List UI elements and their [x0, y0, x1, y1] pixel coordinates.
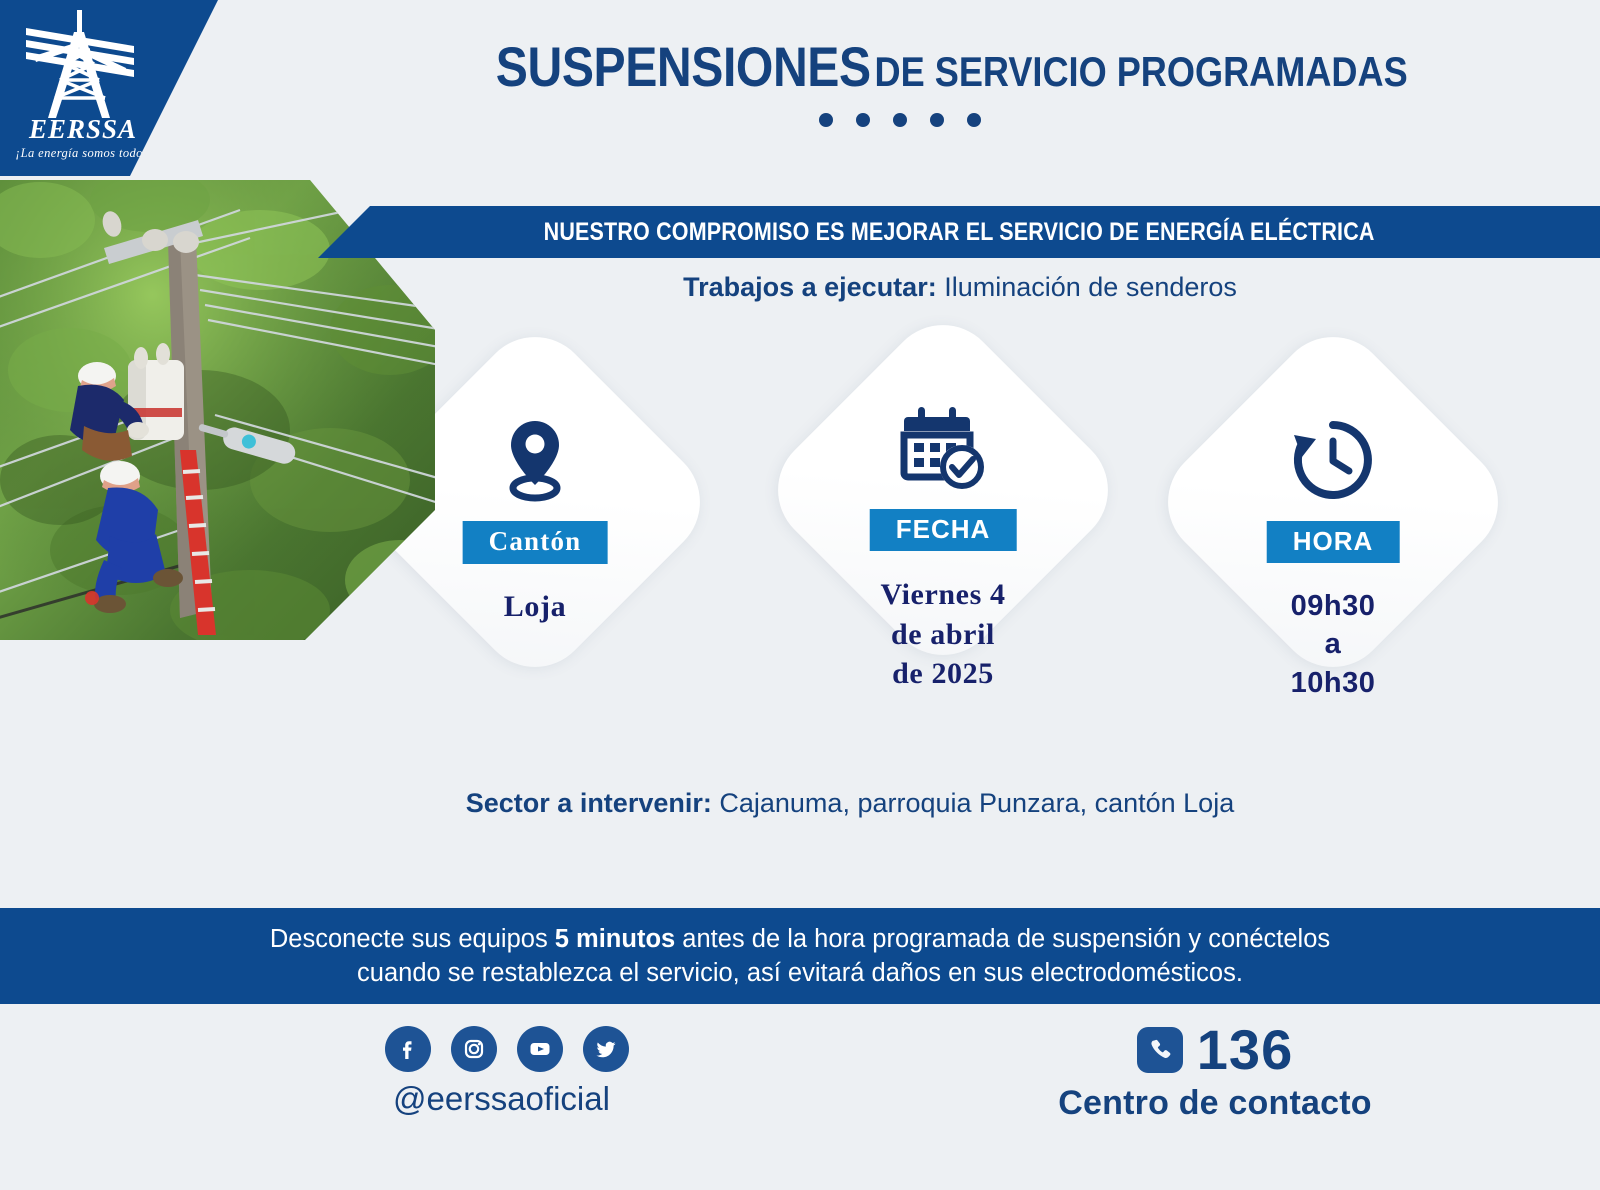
- info-cards: Cantón Loja: [370, 355, 1600, 755]
- divider-dot: [856, 113, 870, 127]
- sector-label: Sector a intervenir:: [466, 788, 712, 818]
- warning-highlight: 5 minutos: [555, 925, 675, 953]
- social-handle[interactable]: @eerssaoficial: [393, 1080, 635, 1118]
- divider-dot: [930, 113, 944, 127]
- contact-block: 136 Centro de contacto: [1005, 1022, 1425, 1123]
- page-title: SUSPENSIONES DE SERVICIO PROGRAMADAS: [496, 34, 1304, 99]
- warning-text-a: Desconecte sus equipos: [270, 925, 555, 953]
- dot-divider: [430, 113, 1370, 127]
- facebook-icon[interactable]: [385, 1026, 431, 1072]
- contact-row: 136: [1005, 1022, 1425, 1078]
- title-rest: DE SERVICIO PROGRAMADAS: [875, 48, 1408, 95]
- warning-banner: Desconecte sus equipos 5 minutos antes d…: [0, 908, 1600, 1004]
- page-header: SUSPENSIONES DE SERVICIO PROGRAMADAS: [430, 34, 1370, 127]
- instagram-icon[interactable]: [451, 1026, 497, 1072]
- transmission-tower-icon: [20, 6, 140, 126]
- works-line: Trabajos a ejecutar: Iluminación de send…: [430, 272, 1490, 303]
- contact-number: 136: [1197, 1022, 1293, 1078]
- card-fecha-value: Viernes 4 de abril de 2025: [778, 575, 1108, 694]
- divider-dot: [967, 113, 981, 127]
- clock-restore-icon: [1168, 417, 1498, 503]
- contact-label: Centro de contacto: [1005, 1084, 1425, 1123]
- phone-icon: [1137, 1027, 1183, 1073]
- card-hora-value: 09h30 a 10h30: [1168, 587, 1498, 702]
- commitment-banner: NUESTRO COMPROMISO ES MEJORAR EL SERVICI…: [318, 206, 1600, 258]
- social-icon-row: [385, 1026, 635, 1072]
- sector-value: Cajanuma, parroquia Punzara, cantón Loja: [719, 788, 1234, 818]
- card-canton-label: Cantón: [463, 521, 608, 564]
- card-fecha: FECHA Viernes 4 de abril de 2025: [778, 357, 1108, 687]
- warning-text-c: antes de la hora programada de suspensió…: [675, 925, 1330, 953]
- card-canton-value: Loja: [370, 587, 700, 627]
- divider-dot: [819, 113, 833, 127]
- title-strong: SUSPENSIONES: [496, 35, 871, 98]
- infographic-canvas: EERSSA ¡La energía somos todos! SUSPENSI…: [0, 0, 1600, 1190]
- logo-tagline: ¡La energía somos todos!: [8, 146, 160, 161]
- card-fecha-label: FECHA: [870, 509, 1017, 551]
- twitter-icon[interactable]: [583, 1026, 629, 1072]
- logo-wordmark: EERSSA: [8, 114, 158, 145]
- warning-line-2: cuando se restablezca el servicio, así e…: [357, 956, 1243, 990]
- social-block: @eerssaoficial: [385, 1026, 635, 1118]
- calendar-check-icon: [778, 405, 1108, 491]
- card-hora-label: HORA: [1267, 521, 1400, 563]
- commitment-text: NUESTRO COMPROMISO ES MEJORAR EL SERVICI…: [544, 218, 1375, 247]
- youtube-icon[interactable]: [517, 1026, 563, 1072]
- eerssa-logo-panel: EERSSA ¡La energía somos todos!: [0, 0, 218, 176]
- divider-dot: [893, 113, 907, 127]
- works-value: Iluminación de senderos: [944, 272, 1237, 302]
- card-hora: HORA 09h30 a 10h30: [1168, 369, 1498, 699]
- sector-line: Sector a intervenir: Cajanuma, parroquia…: [300, 788, 1400, 819]
- works-label: Trabajos a ejecutar:: [683, 272, 937, 302]
- warning-line-1: Desconecte sus equipos 5 minutos antes d…: [270, 922, 1330, 956]
